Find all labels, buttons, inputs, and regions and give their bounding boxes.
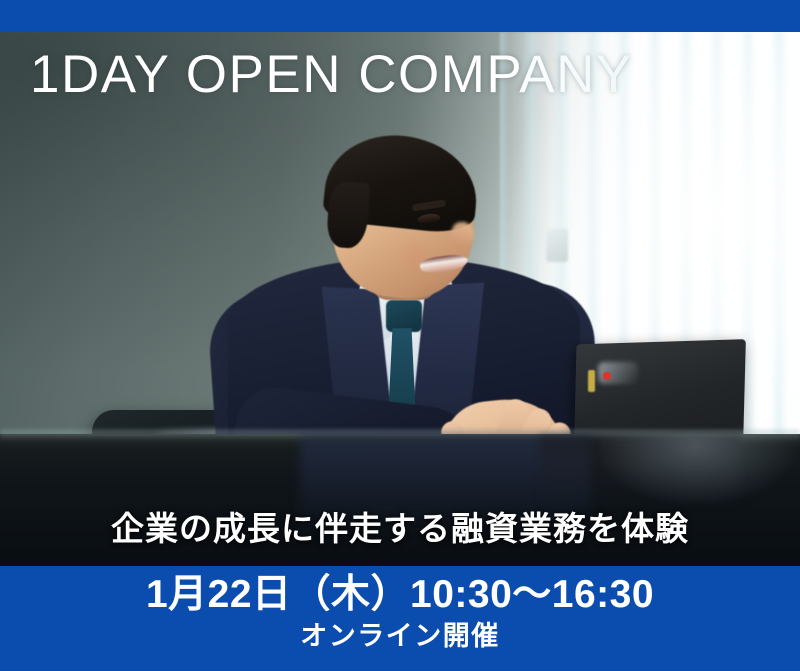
event-date-time: 1月22日（木）10:30〜16:30 bbox=[0, 566, 800, 618]
headline: 1DAY OPEN COMPANY bbox=[0, 46, 800, 103]
event-banner: 1DAY OPEN COMPANY 1DAY OPEN COMPANY 企業の成… bbox=[0, 0, 800, 671]
necktie-knot bbox=[386, 300, 422, 332]
bottom-blue-bar: 1月22日（木）10:30〜16:30 オンライン開催 bbox=[0, 566, 800, 671]
laptop-sticker bbox=[588, 370, 595, 392]
subtitle: 企業の成長に伴走する融資業務を体験 bbox=[0, 502, 800, 550]
hero-photo bbox=[0, 32, 800, 566]
event-format: オンライン開催 bbox=[0, 618, 800, 652]
laptop-logo-dot bbox=[603, 372, 611, 380]
wall-plate bbox=[546, 228, 568, 262]
top-blue-bar bbox=[0, 0, 800, 32]
